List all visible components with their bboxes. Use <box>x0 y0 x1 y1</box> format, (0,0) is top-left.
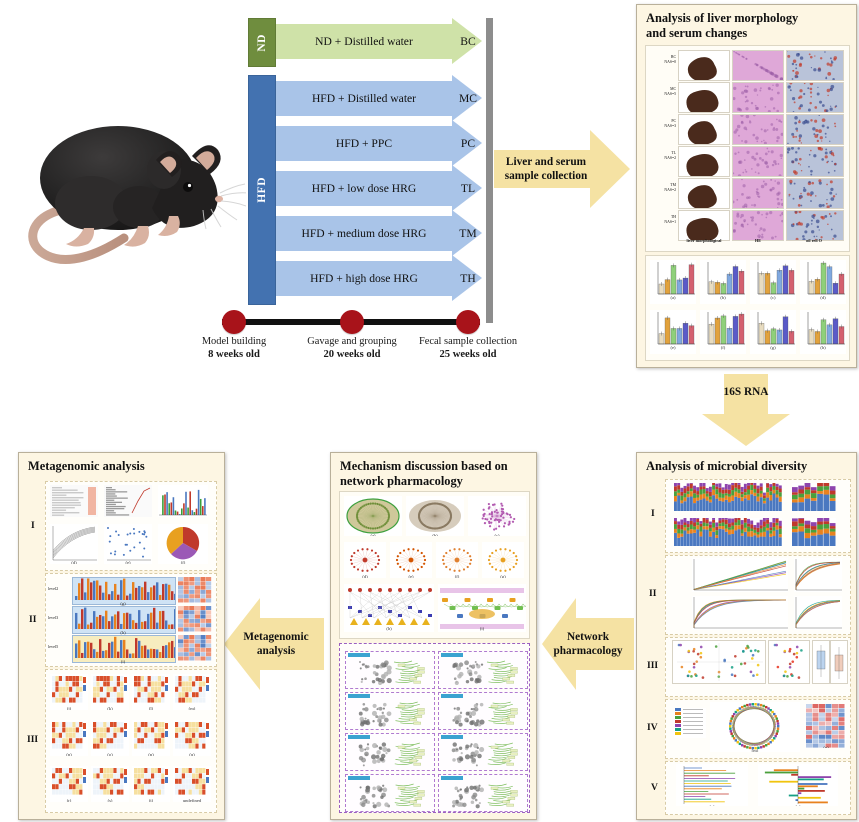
metagenomic-table-plot: (a) <box>50 485 98 517</box>
mouse-illustration <box>6 60 246 310</box>
process-arrow-network-pharmacology: Network pharmacology <box>542 592 634 696</box>
liver-he-stain-image <box>732 178 784 209</box>
treatment-arm-mc-code: MC <box>454 81 482 116</box>
treatment-arm-tm: HFD + medium dose HRG TM <box>276 216 486 251</box>
network-graph-bipartite: (h) <box>344 584 434 632</box>
subplot-caption: (g) <box>750 345 796 350</box>
microbial-stacked-bar: (c) <box>674 518 782 546</box>
treatment-arm-bc: ND + Distilled water BC <box>276 24 486 59</box>
microbial-boxplot: (k) <box>812 640 830 684</box>
process-arrow-network-pharmacology-label: Network pharmacology <box>544 630 632 658</box>
timeline-event-3-label: Fecal sample collection <box>393 336 543 348</box>
subplot-caption: (o) <box>91 752 129 756</box>
process-arrow-16s-rna-label: 16S RNA <box>700 385 792 399</box>
subplot-caption: (e) <box>104 560 152 564</box>
subplot-caption: (b) <box>406 533 464 536</box>
treatment-arm-mc: HFD + Distilled water MC <box>276 81 486 116</box>
liver-morphology-image <box>678 82 730 113</box>
liver-oil-red-o-image <box>786 210 844 241</box>
subplot-caption: (j) <box>50 706 88 710</box>
network-pathway-group <box>339 643 530 813</box>
microbial-rarefaction-curve: (f) <box>692 596 788 630</box>
row-label-pc: PCNAS=3 <box>646 119 676 129</box>
subplot-caption: (g) <box>482 574 524 578</box>
microbial-section-II: (e) (f) (g) (h) <box>665 555 851 635</box>
metagenomic-roman-I: I <box>31 521 35 531</box>
microbial-roman-IV: IV <box>647 723 658 733</box>
subplot-caption: (a) <box>344 533 402 536</box>
subplot-caption: (a) <box>650 295 696 300</box>
subplot-caption: (k) <box>91 706 129 710</box>
subplot-caption: (i) <box>673 682 765 684</box>
subplot-caption: (a) <box>50 516 98 517</box>
network-graph-hub: (c) <box>468 496 526 536</box>
row-label-tm: TMNAS=2 <box>646 183 676 193</box>
subplot-caption: (i) <box>72 659 174 664</box>
subplot-caption: (t) <box>132 798 170 802</box>
metagenomic-correlation-heatmap: (l) <box>132 674 170 710</box>
subplot-caption: (h) <box>344 626 434 631</box>
liver-oil-red-o-image <box>786 82 844 113</box>
subplot-caption: (m) <box>710 748 800 752</box>
process-arrow-liver-serum: Liver and serum sample collection <box>494 128 630 210</box>
liver-histology-grid: BCNAS=0 MCNAS=5 PCNAS=3 TLNAS=2 TMNAS=2 … <box>645 45 850 252</box>
title-line2: and serum changes <box>646 26 747 40</box>
diet-group-hfd-label: HFD <box>256 177 268 203</box>
subplot-caption: (f) <box>436 574 478 578</box>
molecular-docking-image <box>438 733 528 771</box>
metagenomic-correlation-heatmap: (n) <box>50 720 88 756</box>
network-graph-cluster: (e) <box>390 542 432 578</box>
microbial-stacked-bar: (b) <box>792 483 836 511</box>
microbial-roman-III: III <box>647 661 658 671</box>
panel-microbial-title: Analysis of microbial diversity <box>646 459 848 474</box>
treatment-arm-tl: HFD + low dose HRG TL <box>276 171 486 206</box>
metagenomic-correlation-heatmap: (r) <box>50 766 88 802</box>
microbial-boxplot: (l) <box>830 640 848 684</box>
timeline-marker-1 <box>222 310 246 334</box>
treatment-arm-bc-label: ND + Distilled water <box>276 24 452 59</box>
treatment-arm-th: HFD + high dose HRG TH <box>276 261 486 296</box>
liver-morphology-image <box>678 178 730 209</box>
timeline-marker-2 <box>340 310 364 334</box>
microbial-section-IV: (m) (n) <box>665 699 851 759</box>
microbial-section-I: (a) (b) (c) (d) <box>665 479 851 553</box>
metagenomic-bar-plot: (c) <box>158 485 208 517</box>
subplot-caption: (e) <box>692 591 788 592</box>
subplot-caption: (b) <box>700 295 746 300</box>
title-line1: Mechanism discussion based on <box>340 459 508 473</box>
liver-he-stain-image <box>732 50 784 81</box>
network-graph-cluster: (g) <box>482 542 524 578</box>
subplot-caption: (r) <box>50 798 88 802</box>
molecular-docking-image <box>438 774 528 812</box>
line2: analysis <box>257 645 295 657</box>
metagenomic-level-heatmap <box>178 577 212 603</box>
liver-he-stain-image <box>732 82 784 113</box>
treatment-arm-tl-code: TL <box>454 171 482 206</box>
metagenomic-section-II: level2 (g) level3 (h) level5 (i) <box>45 573 217 667</box>
microbial-section-V: (o) (p) <box>665 761 851 815</box>
microbial-roman-I: I <box>651 509 655 519</box>
metagenomic-roman-III: III <box>27 735 38 745</box>
microbial-lefse-cladogram: (o) <box>676 764 748 806</box>
network-pathway-kegg: (i) <box>438 584 526 632</box>
subplot-caption: (f) <box>692 629 788 630</box>
microbial-roman-V: V <box>651 783 658 793</box>
treatment-arm-tl-label: HFD + low dose HRG <box>276 171 452 206</box>
molecular-docking-image <box>345 651 435 689</box>
subplot-caption: (e) <box>390 574 432 578</box>
microbial-pcoa-scatter: (j) <box>768 640 810 684</box>
microbial-legend <box>674 708 706 738</box>
row-label-tl: TLNAS=2 <box>646 151 676 161</box>
microbial-circos-plot: (m) <box>710 702 800 752</box>
microbial-section-III: (i) (j) (k) (l) <box>665 637 851 697</box>
row-label-bc: BCNAS=0 <box>646 55 676 65</box>
diet-group-nd-label: ND <box>256 34 268 52</box>
title-line2: network pharmacology <box>340 474 463 488</box>
microbial-rarefaction-curve: (g) <box>794 558 842 592</box>
microbial-rarefaction-curve: (h) <box>794 596 842 630</box>
line1: Liver and serum <box>506 156 586 168</box>
subplot-caption: (h) <box>800 345 846 350</box>
microbial-heatmap: (n) <box>806 704 846 748</box>
subplot-caption: (p) <box>758 804 838 806</box>
metagenomic-rank-plot: (b) <box>104 485 152 517</box>
treatment-arm-tm-code: TM <box>454 216 482 251</box>
microbial-rarefaction-curve: (e) <box>692 558 788 592</box>
serum-bar-chart: (b) <box>700 260 746 304</box>
subplot-caption: (c) <box>158 516 208 517</box>
serum-bar-chart: (f) <box>700 310 746 354</box>
subplot-caption: undefined <box>173 798 211 802</box>
process-arrow-liver-serum-label: Liver and serum sample collection <box>494 155 598 183</box>
liver-morphology-image <box>678 146 730 177</box>
panel-network-pharmacology[interactable]: Mechanism discussion based on network ph… <box>330 452 537 820</box>
molecular-docking-image <box>345 733 435 771</box>
subplot-caption: (b) <box>104 516 152 517</box>
microbial-stacked-bar: (d) <box>792 518 836 546</box>
serum-bar-charts: (a) (b) <box>645 255 850 361</box>
microbial-lefse-bar: (p) <box>758 764 838 806</box>
microbial-pcoa-scatter: (i) <box>672 640 766 684</box>
subplot-caption: (f) <box>700 345 746 350</box>
metagenomic-correlation-heatmap: (o) <box>91 720 129 756</box>
row-label-mc: MCNAS=5 <box>646 87 676 97</box>
subplot-caption: (i) <box>438 626 526 631</box>
serum-bar-chart: (e) <box>650 310 696 354</box>
liver-oil-red-o-image <box>786 146 844 177</box>
subplot-caption: (d) <box>800 295 846 300</box>
timeline-event-3-age: 25 weeks old <box>393 348 543 362</box>
process-arrow-metagenomic-analysis-label: Metagenomic analysis <box>230 630 322 658</box>
subplot-caption: (k) <box>813 682 829 684</box>
metagenomic-correlation-heatmap: (k) <box>91 674 129 710</box>
diet-group-hfd: HFD <box>248 75 276 305</box>
treatment-arm-pc-label: HFD + PPC <box>276 126 452 161</box>
subplot-caption: (l) <box>132 706 170 710</box>
title-line1: Analysis of liver morphology <box>646 11 798 25</box>
subplot-caption: (g) <box>794 591 842 592</box>
subplot-caption: (l) <box>831 682 847 684</box>
subplot-caption: (d) <box>50 560 98 564</box>
metagenomic-correlation-heatmap: (q) <box>173 720 211 756</box>
liver-morphology-image <box>678 210 730 241</box>
metagenomic-level-heatmap <box>178 606 212 632</box>
subplot-caption: (o) <box>676 804 748 806</box>
column-label-oilredo: oil red O <box>786 238 842 243</box>
panel-liver-morphology[interactable]: Analysis of liver morphology and serum c… <box>636 4 857 368</box>
liver-morphology-image <box>678 50 730 81</box>
metagenomic-section-I: (a) (b) (c) (d) (e) (f) <box>45 481 217 571</box>
treatment-arm-mc-label: HFD + Distilled water <box>276 81 452 116</box>
subplot-caption: (d) <box>344 574 386 578</box>
treatment-arm-pc: HFD + PPC PC <box>276 126 486 161</box>
metagenomic-level-label: level2 <box>48 586 58 591</box>
metagenomic-correlation-heatmap: (p) <box>132 720 170 756</box>
panel-metagenomic-analysis[interactable]: Metagenomic analysis (a) (b) (c) (d) (e)… <box>18 452 225 820</box>
serum-bar-chart: (a) <box>650 260 696 304</box>
study-timeline: Model building 8 weeks old Gavage and gr… <box>200 306 500 362</box>
network-graph-target: (b) <box>406 496 464 536</box>
liver-oil-red-o-image <box>786 50 844 81</box>
treatment-arm-bc-code: BC <box>454 24 482 59</box>
subplot-caption: (q) <box>173 752 211 756</box>
metagenomic-correlation-heatmap: (t) <box>132 766 170 802</box>
subplot-caption: (c) <box>750 295 796 300</box>
metagenomic-level-label: level3 <box>48 615 58 620</box>
metagenomic-correlation-heatmap: (j) <box>50 674 88 710</box>
subplot-caption: (n) <box>50 752 88 756</box>
subplot-caption: (m) <box>173 706 211 710</box>
diet-group-nd: ND <box>248 18 276 67</box>
subplot-caption: (j) <box>769 682 809 684</box>
molecular-docking-image <box>438 692 528 730</box>
metagenomic-scatter: (e) <box>104 524 152 564</box>
timeline-event-3: Fecal sample collection 25 weeks old <box>393 336 543 362</box>
sample-collection-bar <box>486 18 493 323</box>
liver-morphology-image <box>678 114 730 145</box>
subplot-caption: (p) <box>132 752 170 756</box>
treatment-arm-tm-label: HFD + medium dose HRG <box>276 216 452 251</box>
line2: pharmacology <box>553 645 622 657</box>
treatment-arm-th-label: HFD + high dose HRG <box>276 261 452 296</box>
network-graph-cluster: (d) <box>344 542 386 578</box>
line1: Metagenomic <box>243 631 308 643</box>
panel-metagenomic-title: Metagenomic analysis <box>28 459 216 474</box>
serum-bar-chart: (c) <box>750 260 796 304</box>
network-graphs-group: (a) (b) (c)(d)(e)(f)(g) (h) (i) <box>339 491 530 639</box>
subplot-caption: (e) <box>650 345 696 350</box>
liver-oil-red-o-image <box>786 114 844 145</box>
network-graph-ppi: (a) <box>344 496 402 536</box>
line1: Network <box>567 631 609 643</box>
serum-bar-chart: (h) <box>800 310 846 354</box>
molecular-docking-image <box>438 651 528 689</box>
microbial-roman-II: II <box>649 589 656 599</box>
serum-bar-chart: (d) <box>800 260 846 304</box>
metagenomic-roman-II: II <box>29 615 36 625</box>
treatment-groups-diagram: ND HFD ND + Distilled water BC HFD + Dis… <box>248 18 486 303</box>
panel-microbial-diversity[interactable]: Analysis of microbial diversity (a) (b) … <box>636 452 857 820</box>
subplot-caption: (s) <box>91 798 129 802</box>
subplot-caption: (f) <box>158 560 208 564</box>
process-arrow-16s-rna: 16S RNA <box>700 374 792 446</box>
panel-liver-title: Analysis of liver morphology and serum c… <box>646 11 848 41</box>
process-arrow-metagenomic-analysis: Metagenomic analysis <box>224 592 324 696</box>
metagenomic-correlation-heatmap: undefined <box>173 766 211 802</box>
molecular-docking-image <box>345 774 435 812</box>
metagenomic-rarefaction: (d) <box>50 524 98 564</box>
liver-he-stain-image <box>732 210 784 241</box>
row-label-th: THNAS=1 <box>646 215 676 225</box>
timeline-marker-3 <box>456 310 480 334</box>
treatment-arm-pc-code: PC <box>454 126 482 161</box>
serum-bar-chart: (g) <box>750 310 796 354</box>
treatment-arm-th-code: TH <box>454 261 482 296</box>
column-label-morphology: liver morphological <box>678 238 730 243</box>
subplot-caption: (h) <box>794 629 842 630</box>
subplot-caption: (c) <box>468 533 526 536</box>
liver-oil-red-o-image <box>786 178 844 209</box>
metagenomic-correlation-heatmap: (m) <box>173 674 211 710</box>
metagenomic-level-label: level5 <box>48 644 58 649</box>
microbial-stacked-bar: (a) <box>674 483 782 511</box>
metagenomic-correlation-heatmap: (s) <box>91 766 129 802</box>
panel-network-title: Mechanism discussion based on network ph… <box>340 459 528 489</box>
metagenomic-pie-chart: (f) <box>158 524 208 564</box>
molecular-docking-image <box>345 692 435 730</box>
metagenomic-level-heatmap <box>178 635 212 661</box>
line2: sample collection <box>505 170 588 182</box>
network-graph-cluster: (f) <box>436 542 478 578</box>
liver-he-stain-image <box>732 146 784 177</box>
metagenomic-section-III: (j) (k) (l) (m) (n) (o) (p) (q) (r) (s) … <box>45 669 217 813</box>
liver-he-stain-image <box>732 114 784 145</box>
column-label-he: HE <box>732 238 784 243</box>
subplot-caption: (n) <box>806 745 846 748</box>
